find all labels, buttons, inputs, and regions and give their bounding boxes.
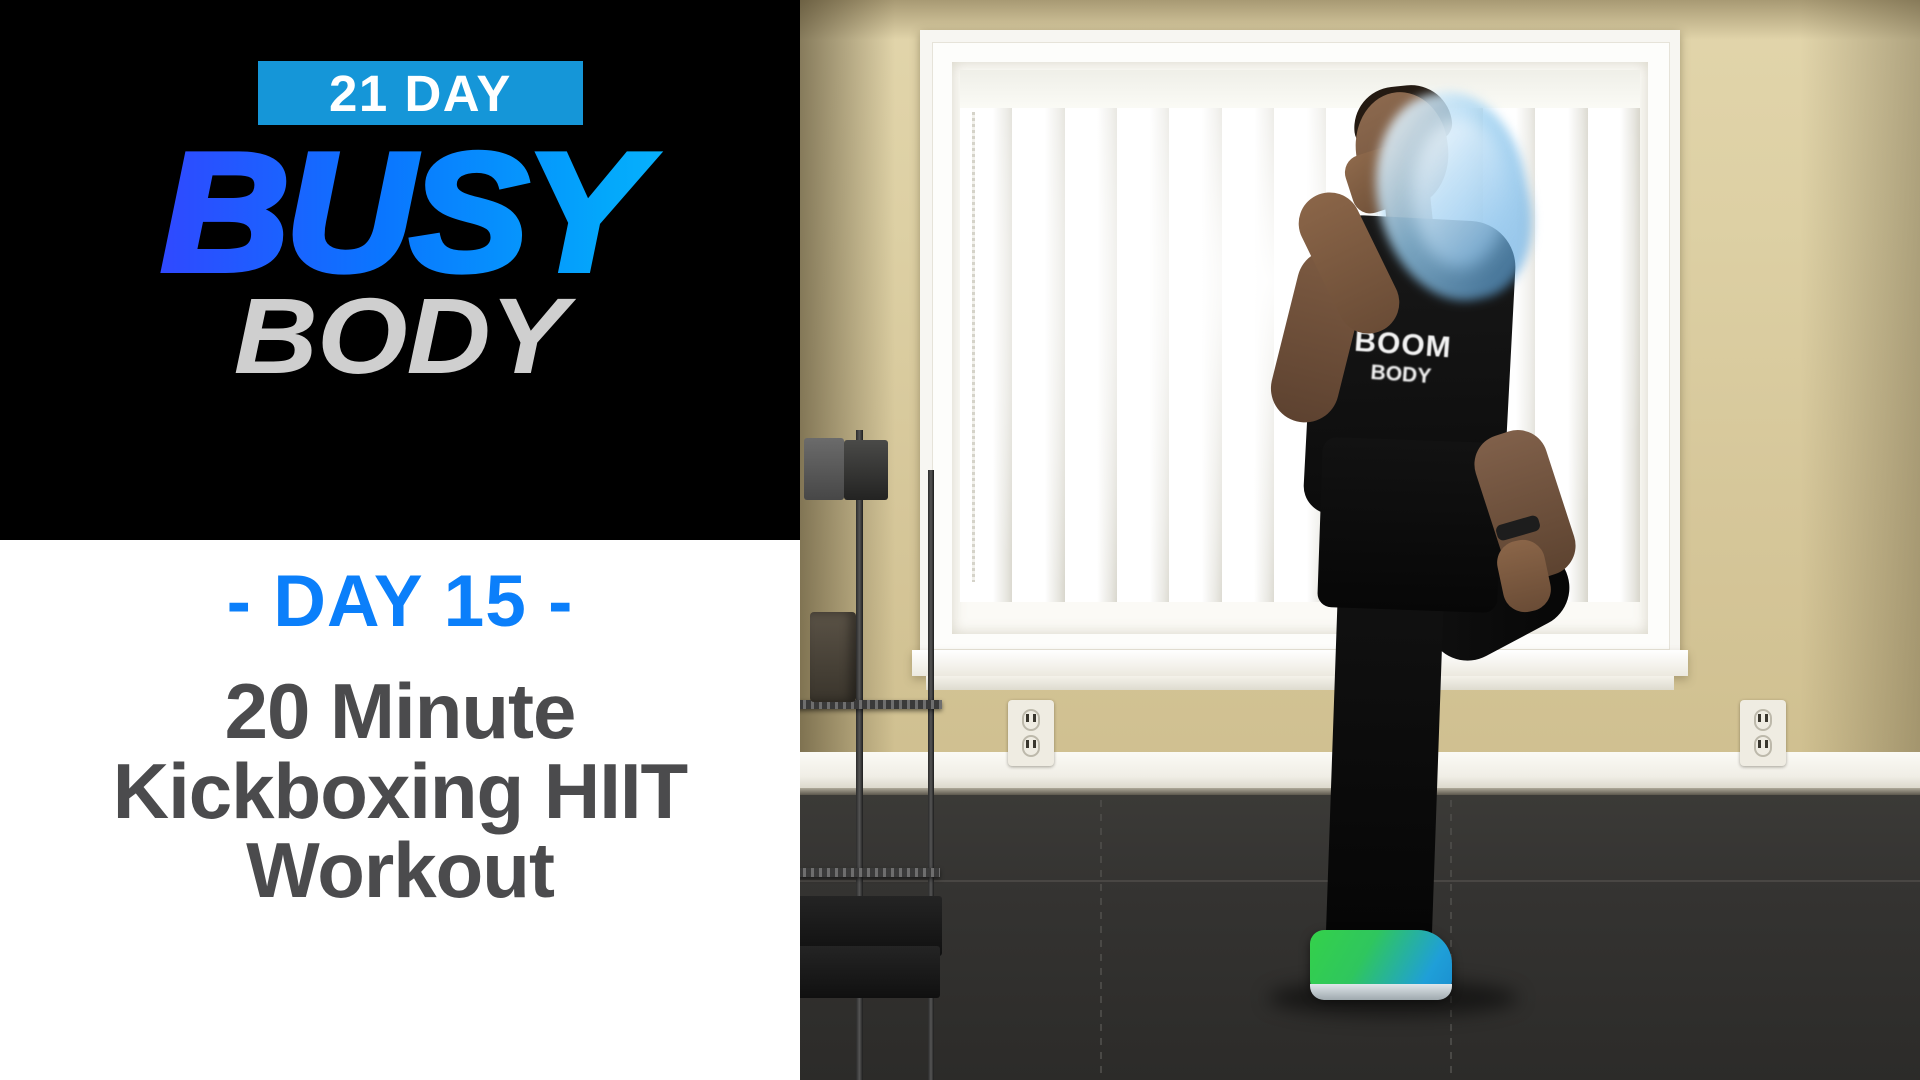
workout-description-line-3: Workout <box>0 831 800 911</box>
workout-photo: BOOM BODY <box>800 0 1920 1080</box>
program-duration-label: 21 DAY <box>329 68 512 119</box>
day-label: - DAY 15 - <box>0 565 800 638</box>
workout-description-line-1: 20 Minute <box>0 672 800 752</box>
program-title-secondary: BODY <box>0 282 832 390</box>
program-duration-badge: 21 DAY <box>258 61 583 125</box>
sneaker-sole <box>1310 984 1452 1000</box>
info-panel: 21 DAY BUSY BODY - DAY 15 - 20 Minute Ki… <box>0 0 800 1080</box>
workout-description-line-2: Kickboxing HIIT <box>0 752 800 832</box>
thumbnail-canvas: BOOM BODY 21 DAY BUSY BODY - DAY 15 - 20… <box>0 0 1920 1080</box>
motion-blur <box>1412 118 1508 268</box>
trainer-figure: BOOM BODY <box>800 0 1920 1080</box>
program-title-primary: BUSY <box>0 128 824 296</box>
workout-description: 20 Minute Kickboxing HIIT Workout <box>0 672 800 911</box>
standing-leg <box>1325 558 1445 961</box>
shirt-logo-line2: BODY <box>1344 360 1457 389</box>
shirt-logo: BOOM BODY <box>1342 326 1460 420</box>
